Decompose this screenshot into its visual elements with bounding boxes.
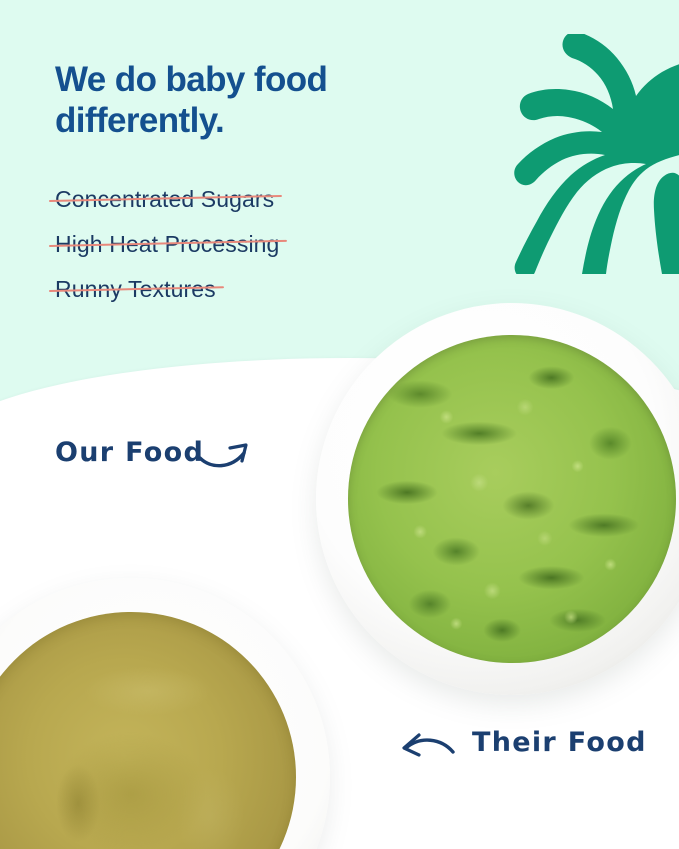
list-item-high-heat-processing: High Heat Processing <box>55 233 279 256</box>
our-food-label: Our Food <box>55 437 204 468</box>
curved-arrow-right-icon <box>197 431 259 477</box>
advertisement-graphic: We do baby food differently. Concentrate… <box>0 0 679 849</box>
their-food-bowl-image <box>0 578 330 849</box>
our-food-bowl-image <box>316 303 679 695</box>
headline-line-2: differently. <box>55 101 475 142</box>
excluded-features-list: Concentrated Sugars High Heat Processing… <box>55 188 475 323</box>
green-puree <box>348 335 676 663</box>
tan-puree <box>0 612 296 849</box>
list-item-runny-textures: Runny Textures <box>55 278 216 301</box>
leaf-frond-icon <box>486 34 679 274</box>
list-item-concentrated-sugars: Concentrated Sugars <box>55 188 274 211</box>
curved-arrow-left-icon <box>392 722 458 768</box>
their-food-label: Their Food <box>472 727 647 758</box>
page-title: We do baby food differently. <box>55 60 475 142</box>
headline-line-1: We do baby food <box>55 60 475 101</box>
